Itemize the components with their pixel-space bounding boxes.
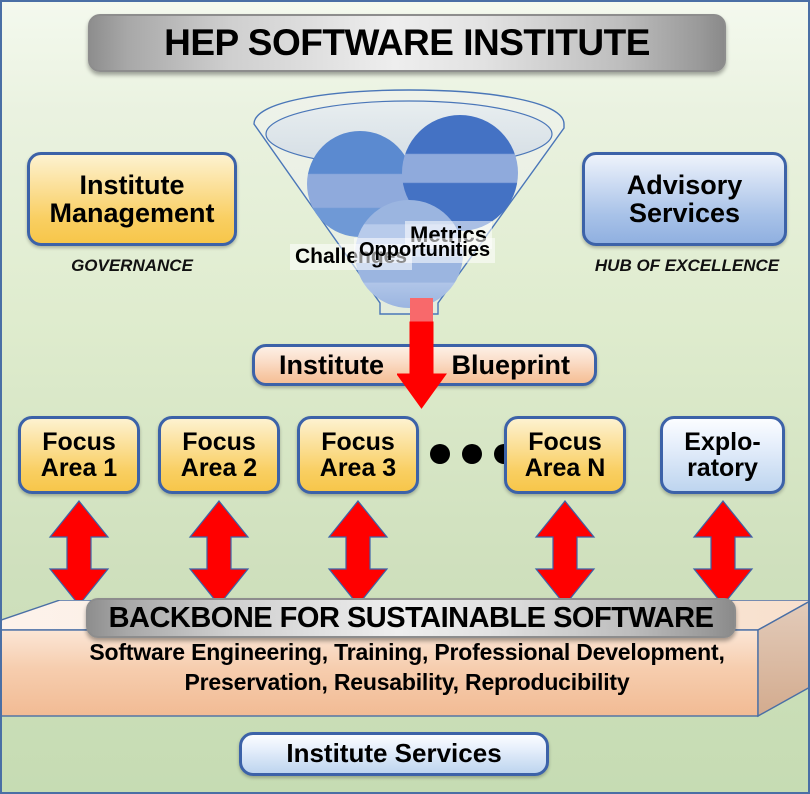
focus-area-3-line1: Focus xyxy=(321,429,395,455)
backbone-body-line2: Preservation, Reusability, Reproducibili… xyxy=(2,668,810,698)
backbone-body-text: Software Engineering, Training, Professi… xyxy=(2,638,810,698)
advisory-services-card[interactable]: Advisory Services xyxy=(582,152,787,246)
focus-area-n-backbone-arrow xyxy=(534,499,596,607)
ellipsis-dot-1 xyxy=(430,444,450,464)
focus-area-2-backbone-arrow xyxy=(188,499,250,607)
exploratory-line1: Explo- xyxy=(684,429,760,455)
institute-management-line1: Institute xyxy=(80,171,185,199)
focus-area-2-line2: Area 2 xyxy=(181,455,257,481)
focus-area-n-card[interactable]: Focus Area N xyxy=(504,416,626,494)
institute-services-card[interactable]: Institute Services xyxy=(239,732,549,776)
institute-blueprint-label-right: Blueprint xyxy=(452,351,571,379)
focus-area-ellipsis xyxy=(430,444,514,464)
focus-area-2-line1: Focus xyxy=(182,429,256,455)
page-title: HEP SOFTWARE INSTITUTE xyxy=(88,14,726,72)
focus-area-1-line1: Focus xyxy=(42,429,116,455)
focus-area-n-line1: Focus xyxy=(528,429,602,455)
funnel-bubble-opportunities: Opportunities xyxy=(354,238,495,263)
focus-area-1-line2: Area 1 xyxy=(41,455,117,481)
hub-of-excellence-sublabel: HUB OF EXCELLENCE xyxy=(572,256,802,276)
exploratory-card[interactable]: Explo- ratory xyxy=(660,416,785,494)
advisory-services-line1: Advisory xyxy=(627,171,743,199)
institute-blueprint-label-left: Institute xyxy=(279,351,384,379)
governance-sublabel: GOVERNANCE xyxy=(27,256,237,276)
backbone-banner: BACKBONE FOR SUSTAINABLE SOFTWARE xyxy=(86,598,736,638)
advisory-services-line2: Services xyxy=(629,199,740,227)
focus-area-2-card[interactable]: Focus Area 2 xyxy=(158,416,280,494)
focus-area-3-card[interactable]: Focus Area 3 xyxy=(297,416,419,494)
funnel-to-focus-arrow xyxy=(397,298,447,410)
focus-area-n-line2: Area N xyxy=(525,455,606,481)
institute-services-label: Institute Services xyxy=(286,740,501,767)
backbone-body-line1: Software Engineering, Training, Professi… xyxy=(2,638,810,668)
ellipsis-dot-2 xyxy=(462,444,482,464)
exploratory-line2: ratory xyxy=(687,455,758,481)
focus-area-3-line2: Area 3 xyxy=(320,455,396,481)
focus-area-1-card[interactable]: Focus Area 1 xyxy=(18,416,140,494)
exploratory-backbone-arrow xyxy=(692,499,754,607)
diagram-canvas: HEP SOFTWARE INSTITUTE Institute Managem… xyxy=(0,0,810,794)
funnel-graphic: Challenges Metrics xyxy=(250,88,568,328)
institute-management-card[interactable]: Institute Management xyxy=(27,152,237,246)
focus-area-3-backbone-arrow xyxy=(327,499,389,607)
focus-area-1-backbone-arrow xyxy=(48,499,110,607)
institute-management-line2: Management xyxy=(49,199,214,227)
